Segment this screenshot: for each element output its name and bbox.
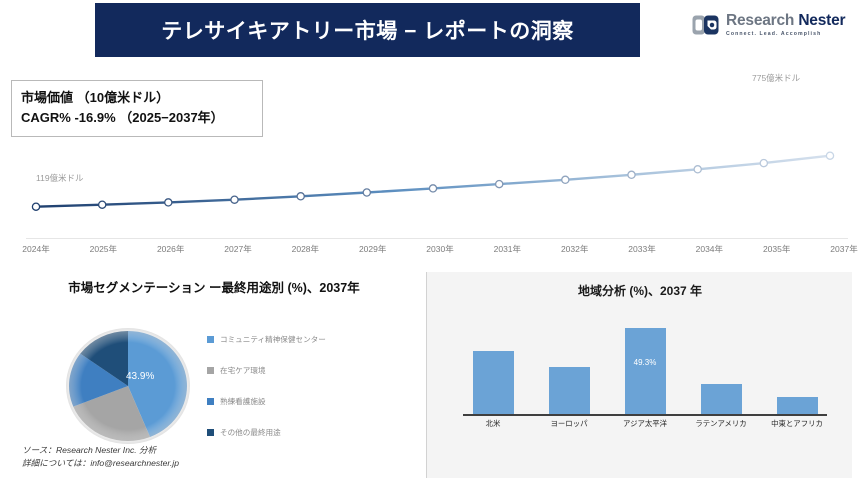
line-data-point <box>496 181 503 188</box>
bar-column <box>771 318 823 414</box>
line-data-point <box>297 193 304 200</box>
line-data-point <box>760 160 767 167</box>
bar <box>701 384 742 414</box>
year-axis-label: 2026年 <box>157 243 184 255</box>
bar-column: 49.3% <box>619 318 671 414</box>
research-nester-logo-icon <box>692 14 719 36</box>
bar <box>473 351 514 414</box>
pie-legend-label: 熟練看護施設 <box>220 396 266 407</box>
logo-tagline: Connect. Lead. Accomplish <box>726 32 845 37</box>
pie-largest-slice-label: 43.9% <box>126 371 154 382</box>
bar-category-label: アジア太平洋 <box>619 418 671 429</box>
bar-category-label: ラテンアメリカ <box>695 418 747 429</box>
line-data-point <box>99 201 106 208</box>
legend-swatch-icon <box>207 367 214 374</box>
bar <box>777 397 818 415</box>
year-axis-label: 2029年 <box>359 243 386 255</box>
bar-chart-category-labels: 北米ヨーロッパアジア太平洋ラテンアメリカ中東とアフリカ <box>467 418 823 429</box>
logo-name: Research Nester <box>726 13 845 29</box>
legend-swatch-icon <box>207 336 214 343</box>
line-data-point <box>231 196 238 203</box>
year-axis-label: 2033年 <box>628 243 655 255</box>
line-data-point <box>562 176 569 183</box>
pie-legend-label: その他の最終用途 <box>220 427 281 438</box>
bar-category-label: 中東とアフリカ <box>771 418 823 429</box>
legend-swatch-icon <box>207 429 214 436</box>
header-banner: テレサイキアトリー市場 − レポートの洞察 <box>95 3 640 57</box>
bar-category-label: ヨーロッパ <box>543 418 595 429</box>
line-data-point <box>165 199 172 206</box>
line-data-point <box>32 203 39 210</box>
line-data-point <box>363 189 370 196</box>
year-axis-label: 2030年 <box>426 243 453 255</box>
regional-bar-chart: 49.3% <box>467 318 823 414</box>
line-chart-axis <box>26 238 848 239</box>
pie-legend-item: 熟練看護施設 <box>207 396 383 407</box>
regional-analysis-panel: 地域分析 (%)、2037 年 49.3% 北米ヨーロッパアジア太平洋ラテンアメ… <box>426 272 852 478</box>
year-axis-label: 2035年 <box>763 243 790 255</box>
year-axis-label: 2025年 <box>90 243 117 255</box>
year-axis-label: 2034年 <box>696 243 723 255</box>
pie-legend-label: 在宅ケア環境 <box>220 365 266 376</box>
pie-legend-label: コミュニティ精神保健センター <box>220 334 326 345</box>
year-axis-label: 2031年 <box>494 243 521 255</box>
bar-category-label: 北米 <box>467 418 519 429</box>
bar <box>625 328 666 414</box>
footer-source-line: ソース：Research Nester Inc. 分析 <box>22 444 179 457</box>
line-data-point <box>628 171 635 178</box>
bar-column <box>695 318 747 414</box>
year-axis-label: 2032年 <box>561 243 588 255</box>
brand-logo: Research Nester Connect. Lead. Accomplis… <box>692 13 845 37</box>
logo-word-nester: Nester <box>798 12 845 29</box>
year-axis-label: 2037年 <box>830 243 857 255</box>
footer-source: ソース：Research Nester Inc. 分析 詳細については：info… <box>22 444 179 471</box>
pie-legend-item: コミュニティ精神保健センター <box>207 334 383 345</box>
year-axis-label: 2027年 <box>224 243 251 255</box>
bar-chart-baseline <box>463 414 827 416</box>
logo-word-research: Research <box>726 12 794 29</box>
bar <box>549 367 590 414</box>
year-axis-label: 2028年 <box>292 243 319 255</box>
pie-legend: コミュニティ精神保健センター在宅ケア環境熟練看護施設その他の最終用途 <box>207 334 383 458</box>
line-data-point <box>826 152 833 159</box>
bar-value-label: 49.3% <box>634 358 657 367</box>
line-data-point <box>429 185 436 192</box>
logo-wordmark: Research Nester Connect. Lead. Accomplis… <box>726 13 845 37</box>
line-chart-year-axis-labels: 2024年2025年2026年2027年2028年2029年2030年2031年… <box>26 243 848 261</box>
pie-legend-item: その他の最終用途 <box>207 427 383 438</box>
footer-contact-line: 詳細については：info@researchnester.jp <box>22 457 179 470</box>
market-forecast-line-chart <box>0 60 862 260</box>
pie-svg <box>53 327 203 445</box>
pie-legend-item: 在宅ケア環境 <box>207 365 383 376</box>
line-data-point <box>694 166 701 173</box>
year-axis-label: 2024年 <box>22 243 49 255</box>
report-infographic-page: テレサイキアトリー市場 − レポートの洞察 Research Nester Co… <box>0 0 862 485</box>
legend-swatch-icon <box>207 398 214 405</box>
page-title: テレサイキアトリー市場 − レポートの洞察 <box>161 15 573 45</box>
regional-analysis-title: 地域分析 (%)、2037 年 <box>427 282 853 299</box>
segmentation-title: 市場セグメンテーション ー最終用途別 (%)、2037年 <box>11 278 417 299</box>
segmentation-pie-chart: 43.9% <box>53 327 203 445</box>
bar-column <box>467 318 519 414</box>
bar-column <box>543 318 595 414</box>
